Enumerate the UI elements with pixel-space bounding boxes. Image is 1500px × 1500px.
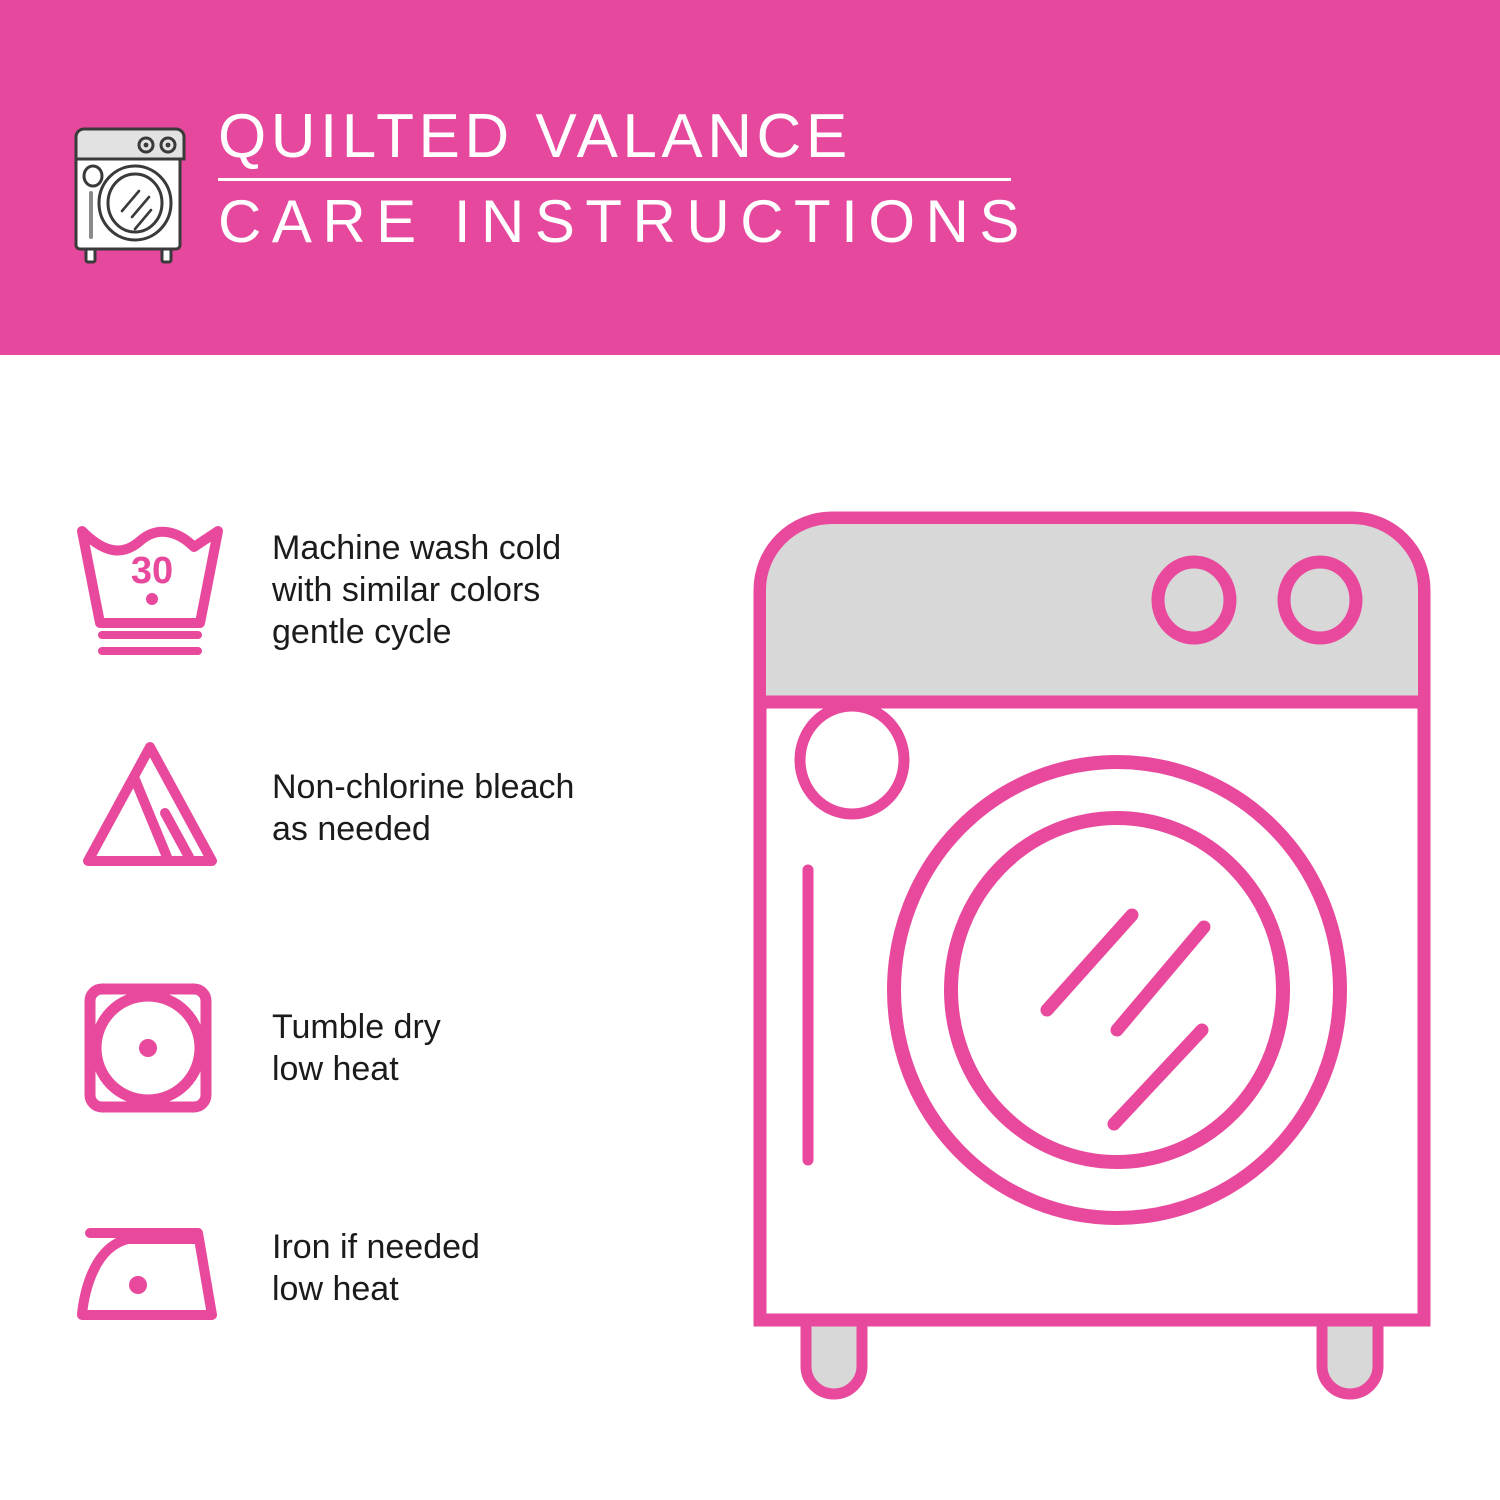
care-instructions-page: QUILTED VALANCE CARE INSTRUCTIONS 30 Mac… [0, 0, 1500, 1500]
care-instruction-label: Tumble dry low heat [272, 1006, 441, 1090]
care-instruction-label: Machine wash cold with similar colors ge… [272, 527, 561, 653]
care-instruction-row: Non-chlorine bleach as needed [72, 733, 672, 883]
care-instruction-list: 30 Machine wash cold with similar colors… [0, 355, 700, 1500]
page-subtitle: CARE INSTRUCTIONS [218, 187, 1018, 257]
tumble-dry-low-symbol [72, 973, 228, 1123]
care-instruction-label: Non-chlorine bleach as needed [272, 766, 574, 850]
wash-temperature-value: 30 [131, 550, 173, 592]
header-divider [218, 178, 1011, 181]
care-instruction-row: Tumble dry low heat [72, 973, 672, 1123]
washing-machine-illustration [742, 500, 1442, 1410]
care-instruction-label: Iron if needed low heat [272, 1226, 480, 1310]
washing-machine-icon [62, 107, 198, 267]
washer-control-panel [766, 524, 1418, 702]
iron-low-heat-symbol [72, 1193, 228, 1343]
care-instruction-row: Iron if needed low heat [72, 1193, 672, 1343]
header-text-block: QUILTED VALANCE CARE INSTRUCTIONS [218, 100, 1018, 257]
page-title: QUILTED VALANCE [218, 100, 1018, 174]
care-instruction-row: 30 Machine wash cold with similar colors… [72, 515, 672, 665]
non-chlorine-bleach-symbol [72, 733, 228, 883]
header-banner: QUILTED VALANCE CARE INSTRUCTIONS [0, 0, 1500, 355]
machine-wash-30-gentle-symbol: 30 [72, 515, 228, 665]
